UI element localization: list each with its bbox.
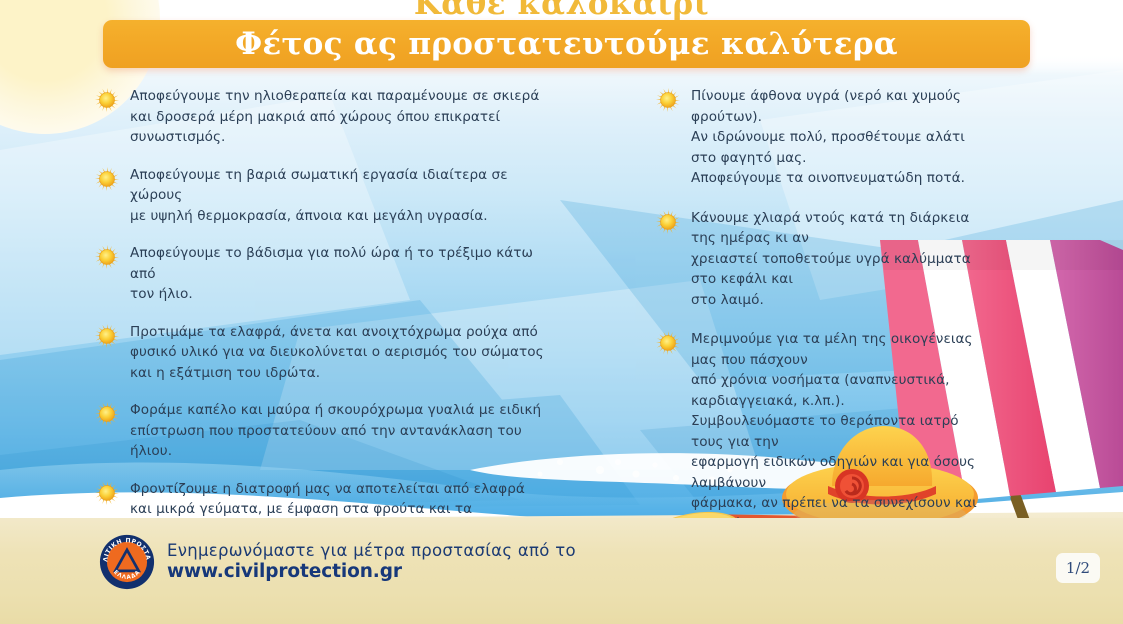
sun-icon [94,401,120,427]
tip-text: Κάνουμε χλιαρά ντούς κατά τη διάρκεια τη… [691,208,977,311]
tip-item: Πίνουμε άφθονα υγρά (νερό και χυμούς φρο… [655,86,977,189]
sun-icon [655,330,681,356]
title-banner: Φέτος ας προστατευτούμε καλύτερα [103,20,1030,68]
sun-icon [94,166,120,192]
sun-icon [94,323,120,349]
footer-text-block: Ενημερωνόμαστε για μέτρα προστασίας από … [167,541,576,583]
sun-icon [655,87,681,113]
sun-icon [94,87,120,113]
left-tips-list: Αποφεύγουμε την ηλιοθεραπεία και παραμέν… [94,86,544,561]
tip-item: Κάνουμε χλιαρά ντούς κατά τη διάρκεια τη… [655,208,977,311]
sun-icon [94,401,120,427]
tip-item: Αποφεύγουμε τη βαριά σωματική εργασία ιδ… [94,165,544,227]
tip-text: Αποφεύγουμε το βάδισμα για πολύ ώρα ή το… [130,243,544,305]
tip-text: Αποφεύγουμε τη βαριά σωματική εργασία ιδ… [130,165,544,227]
tip-item: Φοράμε καπέλο και μαύρα ή σκουρόχρωμα γυ… [94,400,544,462]
civil-protection-logo: ΠΟΛΙΤΙΚΗ ΠΡΟΣΤΑΣΙΑ ΕΛΛΑΔΑ [99,534,155,590]
cut-off-title: Κάθε καλοκαίρι [0,0,1123,22]
tip-text: Προτιμάμε τα ελαφρά, άνετα και ανοιχτόχρ… [130,322,544,384]
sun-icon [94,244,120,270]
tip-item: Προτιμάμε τα ελαφρά, άνετα και ανοιχτόχρ… [94,322,544,384]
sun-icon [94,480,120,506]
tip-item: Αποφεύγουμε την ηλιοθεραπεία και παραμέν… [94,86,544,148]
sun-icon [94,87,120,113]
tip-item: Αποφεύγουμε το βάδισμα για πολύ ώρα ή το… [94,243,544,305]
sun-icon [94,166,120,192]
sun-icon [94,244,120,270]
banner-title-text: Φέτος ας προστατευτούμε καλύτερα [235,29,898,60]
sun-icon [94,480,120,506]
sun-icon [94,323,120,349]
page-indicator: 1/2 [1056,553,1100,583]
poster-root: Κάθε καλοκαίρι Φέτος ας προστατευτούμε κ… [0,0,1123,624]
sun-icon [655,209,681,235]
sun-icon [655,87,681,113]
sun-icon [655,330,681,356]
tip-text: Αποφεύγουμε την ηλιοθεραπεία και παραμέν… [130,86,539,148]
footer-tagline: Ενημερωνόμαστε για μέτρα προστασίας από … [167,541,576,560]
sun-icon [655,209,681,235]
tip-text: Φοράμε καπέλο και μαύρα ή σκουρόχρωμα γυ… [130,400,541,462]
tip-text: Πίνουμε άφθονα υγρά (νερό και χυμούς φρο… [691,86,977,189]
footer-website-link[interactable]: www.civilprotection.gr [167,561,576,582]
footer: ΠΟΛΙΤΙΚΗ ΠΡΟΣΤΑΣΙΑ ΕΛΛΑΔΑ Ενημερωνόμαστε… [99,534,576,590]
